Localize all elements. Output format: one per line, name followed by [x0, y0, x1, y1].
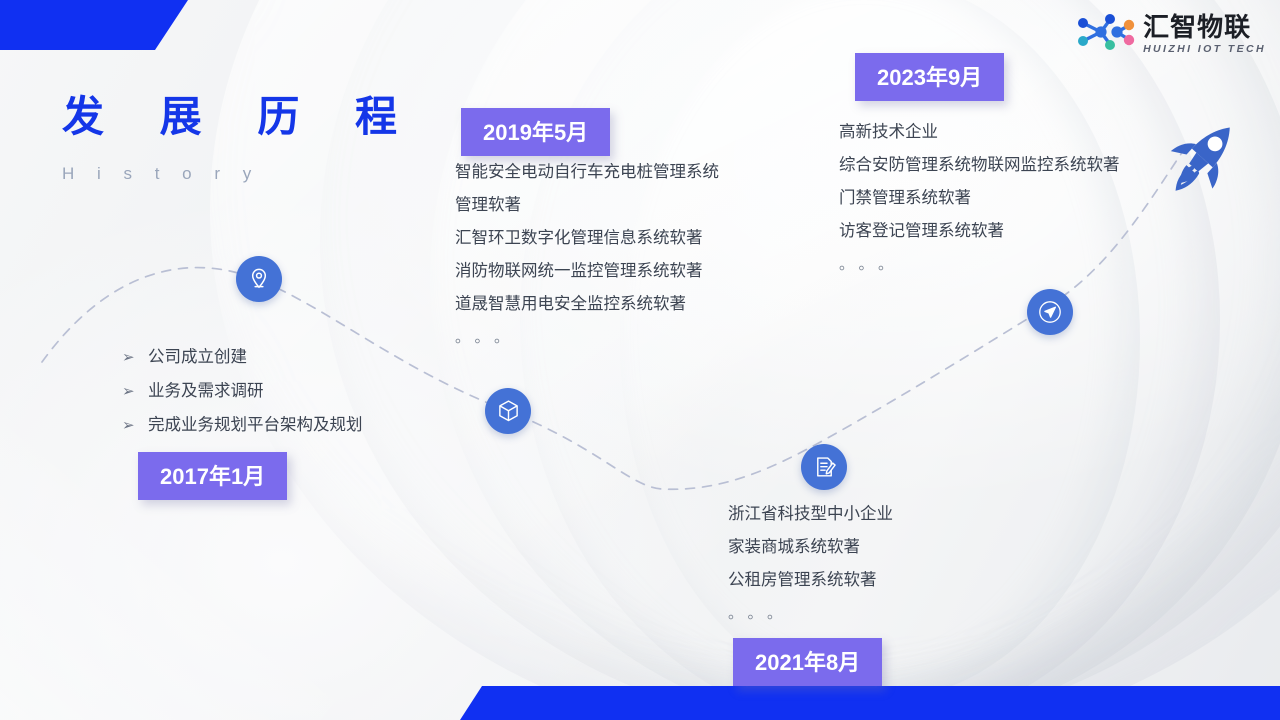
paper-plane-icon: [1037, 299, 1063, 325]
bullet-arrow-icon: ➢: [122, 340, 148, 374]
date-badge-2019[interactable]: 2019年5月: [461, 108, 610, 156]
milestone-node-2021[interactable]: [801, 444, 847, 490]
logo-text-block: 汇智物联 HUIZHI IOT TECH: [1143, 14, 1266, 55]
list-item-label: 公司成立创建: [148, 340, 247, 374]
milestone-node-2019[interactable]: [485, 388, 531, 434]
list-item: 家装商城系统软著: [728, 530, 893, 563]
list-item-label: 业务及需求调研: [148, 374, 264, 408]
bullet-arrow-icon: ➢: [122, 374, 148, 408]
milestone-node-2017[interactable]: [236, 256, 282, 302]
list-item: 综合安防管理系统物联网监控系统软著: [839, 148, 1120, 181]
list-item: ➢ 完成业务规划平台架构及规划: [122, 408, 363, 442]
list-item: 浙江省科技型中小企业: [728, 497, 893, 530]
list-item: 汇智环卫数字化管理信息系统软著: [455, 221, 719, 254]
milestone-group-2023: 高新技术企业 综合安防管理系统物联网监控系统软著 门禁管理系统软著 访客登记管理…: [839, 115, 1120, 274]
logo-name-en: HUIZHI IOT TECH: [1143, 44, 1266, 55]
corner-accent-bottom-right: [460, 686, 1280, 720]
rocket-icon: [1162, 112, 1248, 203]
milestone-group-2017: ➢ 公司成立创建 ➢ 业务及需求调研 ➢ 完成业务规划平台架构及规划: [122, 340, 363, 442]
molecule-network-icon: [1075, 12, 1137, 57]
page-title-block: 发 展 历 程 H i s t o r y: [62, 96, 419, 184]
list-item: 门禁管理系统软著: [839, 181, 1120, 214]
company-logo: 汇智物联 HUIZHI IOT TECH: [1075, 12, 1266, 57]
date-badge-2023[interactable]: 2023年9月: [855, 53, 1004, 101]
list-item: 公租房管理系统软著: [728, 563, 893, 596]
logo-name-cn: 汇智物联: [1143, 14, 1266, 40]
list-ellipsis: 。。。: [728, 602, 893, 623]
list-item: ➢ 业务及需求调研: [122, 374, 363, 408]
corner-accent-top-left: [0, 0, 188, 50]
milestone-group-2021: 浙江省科技型中小企业 家装商城系统软著 公租房管理系统软著 。。。: [728, 497, 893, 623]
list-item: 道晟智慧用电安全监控系统软著: [455, 287, 719, 320]
page-subtitle: H i s t o r y: [62, 164, 419, 184]
date-badge-2017[interactable]: 2017年1月: [138, 452, 287, 500]
milestone-node-2023[interactable]: [1027, 289, 1073, 335]
list-ellipsis: 。。。: [839, 253, 1120, 274]
list-item: 高新技术企业: [839, 115, 1120, 148]
location-pin-icon: [248, 267, 270, 291]
list-item: 访客登记管理系统软著: [839, 214, 1120, 247]
list-item-label: 完成业务规划平台架构及规划: [148, 408, 363, 442]
list-item: 管理软著: [455, 188, 719, 221]
slide-canvas: 发 展 历 程 H i s t o r y: [0, 0, 1280, 720]
document-edit-icon: [813, 455, 836, 479]
date-badge-2021[interactable]: 2021年8月: [733, 638, 882, 686]
cube-box-icon: [497, 399, 520, 423]
list-item: 消防物联网统一监控管理系统软著: [455, 254, 719, 287]
milestone-group-2019: 智能安全电动自行车充电桩管理系统 管理软著 汇智环卫数字化管理信息系统软著 消防…: [455, 155, 719, 347]
list-ellipsis: 。。。: [455, 326, 719, 347]
list-item: 智能安全电动自行车充电桩管理系统: [455, 155, 719, 188]
page-title: 发 展 历 程: [62, 96, 419, 138]
bullet-arrow-icon: ➢: [122, 408, 148, 442]
list-item: ➢ 公司成立创建: [122, 340, 363, 374]
